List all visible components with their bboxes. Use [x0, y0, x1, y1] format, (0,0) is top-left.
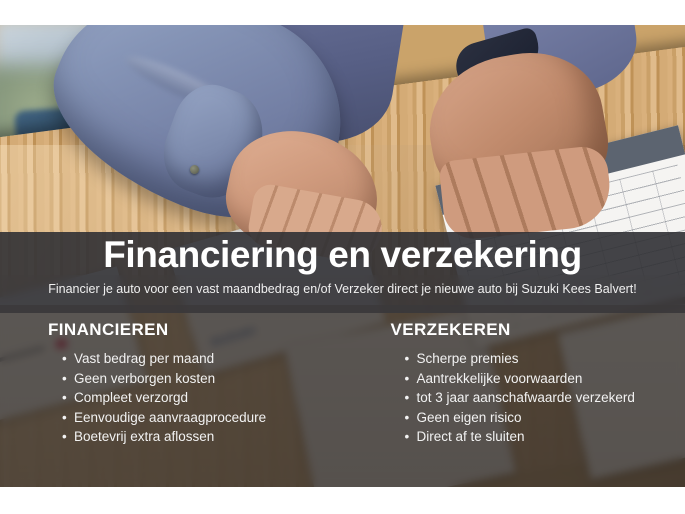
feature-list-verzekeren: Scherpe premies Aantrekkelijke voorwaard…	[391, 349, 685, 447]
bottom-white-margin	[0, 487, 685, 514]
cuff-button-icon	[190, 165, 199, 174]
list-item: Boetevrij extra aflossen	[62, 427, 343, 447]
feature-list-financieren: Vast bedrag per maand Geen verborgen kos…	[48, 349, 343, 447]
list-item: Aantrekkelijke voorwaarden	[405, 369, 685, 389]
list-item: Geen verborgen kosten	[62, 369, 343, 389]
panel-top-divider	[0, 305, 685, 313]
page-title: Financiering en verzekering	[0, 234, 685, 276]
list-item: Direct af te sluiten	[405, 427, 685, 447]
list-item: Scherpe premies	[405, 349, 685, 369]
promotional-banner: SUZUKI SUZUKI BETAALPLAN Financiering en…	[0, 0, 685, 514]
list-item: Geen eigen risico	[405, 408, 685, 428]
list-item: Vast bedrag per maand	[62, 349, 343, 369]
list-item: Compleet verzorgd	[62, 388, 343, 408]
list-item: Eenvoudige aanvraagprocedure	[62, 408, 343, 428]
features-columns: FINANCIEREN Vast bedrag per maand Geen v…	[0, 320, 685, 480]
top-white-margin	[0, 0, 685, 25]
column-heading-verzekeren: VERZEKEREN	[391, 320, 685, 340]
column-financieren: FINANCIEREN Vast bedrag per maand Geen v…	[0, 320, 343, 480]
list-item: tot 3 jaar aanschafwaarde verzekerd	[405, 388, 685, 408]
page-subtitle: Financier je auto voor een vast maandbed…	[0, 281, 685, 297]
column-heading-financieren: FINANCIEREN	[48, 320, 343, 340]
column-verzekeren: VERZEKEREN Scherpe premies Aantrekkelijk…	[343, 320, 685, 480]
